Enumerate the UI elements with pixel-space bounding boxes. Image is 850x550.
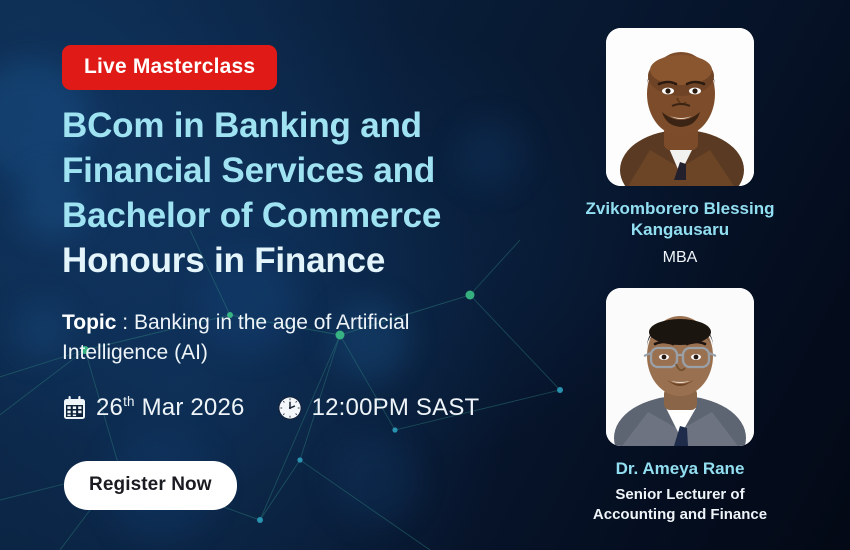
speaker-name-line-1: Dr. Ameya Rane [530, 458, 830, 479]
schedule-row: 26th Mar 2026 [62, 394, 479, 422]
clock-icon [277, 395, 303, 421]
headline-line-3: Bachelor of Commerce [62, 193, 542, 238]
webinar-promo-banner: Live Masterclass BCom in Banking and Fin… [0, 0, 850, 550]
schedule-date: 26th Mar 2026 [96, 394, 245, 422]
speaker-name-line-1: Zvikomborero Blessing [530, 198, 830, 219]
headline-line-2: Financial Services and [62, 148, 542, 193]
calendar-icon [62, 395, 87, 421]
speaker-name: Zvikomborero Blessing Kangausaru [530, 198, 830, 241]
speaker-photo-zvikomborero [606, 28, 754, 186]
schedule-month-year: Mar 2026 [135, 394, 245, 421]
speaker-card: Dr. Ameya Rane Senior Lecturer of Accoun… [530, 288, 830, 524]
speaker-role: Senior Lecturer of Accounting and Financ… [530, 485, 830, 524]
topic-label: Topic [62, 311, 116, 334]
page-title: BCom in Banking and Financial Services a… [62, 103, 542, 284]
speaker-role-line-1: Senior Lecturer of [530, 485, 830, 505]
register-now-button[interactable]: Register Now [64, 461, 237, 510]
headline-line-4: Honours in Finance [62, 238, 542, 283]
speaker-photo-ameya [606, 288, 754, 446]
topic-separator: : [116, 311, 134, 334]
schedule-day-suffix: th [123, 394, 135, 409]
topic-line: Topic : Banking in the age of Artificial… [62, 308, 502, 368]
content-column: Live Masterclass BCom in Banking and Fin… [62, 0, 562, 550]
schedule-day: 26 [96, 394, 123, 421]
live-masterclass-badge: Live Masterclass [62, 45, 277, 90]
speaker-name: Dr. Ameya Rane [530, 458, 830, 479]
speaker-card: Zvikomborero Blessing Kangausaru MBA [530, 28, 830, 269]
speaker-role-line-2: Accounting and Finance [530, 505, 830, 525]
speaker-name-line-2: Kangausaru [530, 219, 830, 240]
schedule-time: 12:00PM SAST [312, 394, 480, 422]
headline-line-1: BCom in Banking and [62, 103, 542, 148]
speaker-role: MBA [530, 248, 830, 269]
